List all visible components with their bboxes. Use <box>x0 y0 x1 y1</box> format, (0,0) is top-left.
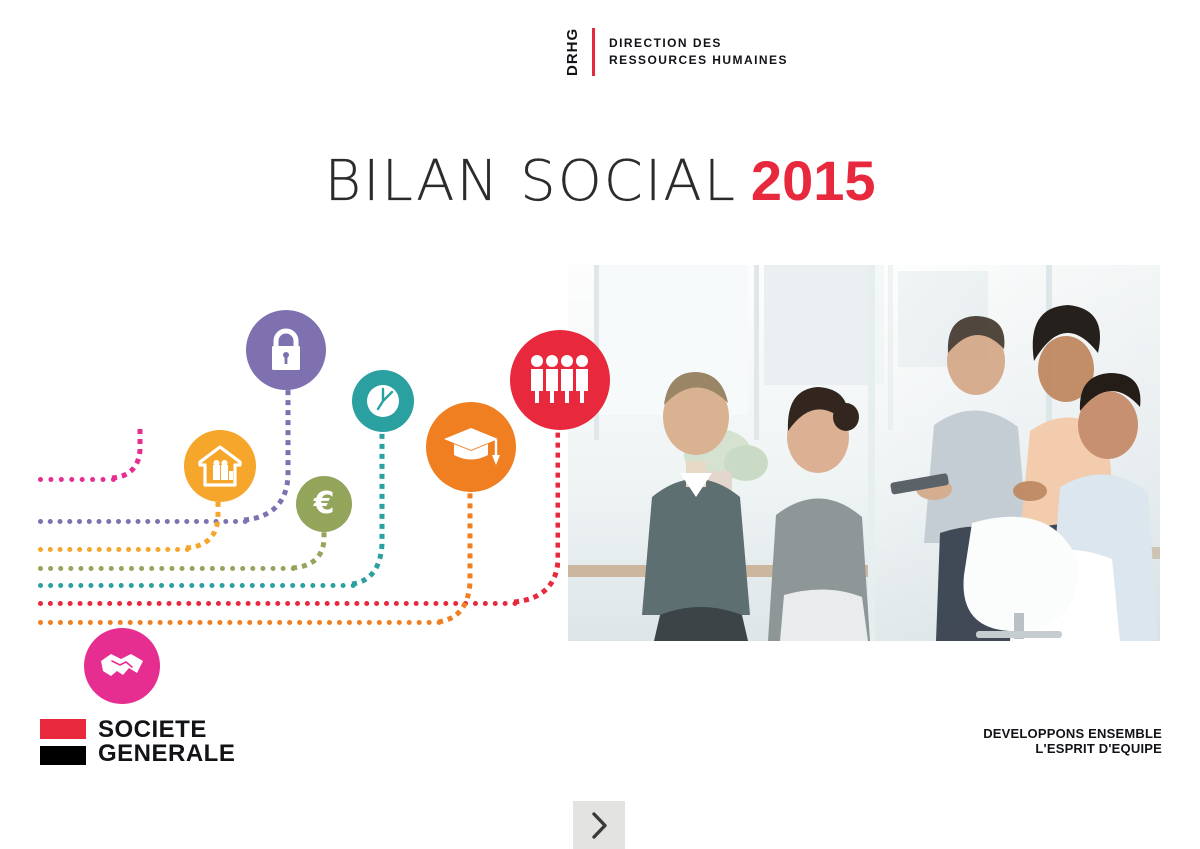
rail-elbow-clock <box>350 410 396 586</box>
header-department-name: DIRECTION DES RESSOURCES HUMAINES <box>609 28 788 76</box>
rail-elbow-handshake <box>110 422 156 480</box>
societe-generale-logo: SOCIETE GENERALE <box>40 718 235 767</box>
next-page-button[interactable] <box>573 801 625 849</box>
tagline-line-2: L'ESPRIT D'EQUIPE <box>983 741 1162 756</box>
tagline-line-1: DEVELOPPONS ENSEMBLE <box>983 726 1162 741</box>
office-team-photo <box>568 265 1160 641</box>
sg-logo-red-band <box>40 719 86 738</box>
clock-icon <box>361 379 405 423</box>
brand-tagline: DEVELOPPONS ENSEMBLE L'ESPRIT D'EQUIPE <box>983 726 1162 757</box>
handshake-icon <box>99 649 145 683</box>
header-divider <box>592 28 595 76</box>
rail-euro <box>38 566 296 571</box>
header-line-1: DIRECTION DES <box>609 35 788 52</box>
header-line-2: RESSOURCES HUMAINES <box>609 52 788 69</box>
bubble-lock[interactable] <box>246 310 326 390</box>
bubble-graduation[interactable] <box>426 402 516 492</box>
sg-logo-line-2: GENERALE <box>98 742 235 766</box>
title-main-text: BILAN SOCIAL <box>325 149 737 214</box>
lock-icon <box>266 327 306 373</box>
brand-header: DRHG DIRECTION DES RESSOURCES HUMAINES <box>565 28 788 76</box>
bubble-clock[interactable] <box>352 370 414 432</box>
sg-logo-mark <box>40 719 86 765</box>
page-title: BILAN SOCIAL2015 <box>0 148 1200 214</box>
rail-clock <box>38 583 356 588</box>
rail-handshake <box>38 477 116 482</box>
graduation-cap-icon <box>442 424 500 470</box>
chevron-right-icon <box>591 812 608 839</box>
people-group-icon <box>529 353 591 407</box>
rail-graduation <box>38 620 442 625</box>
sg-logo-white-band <box>40 739 86 746</box>
cover-illustration: € <box>0 250 1200 650</box>
bubble-people[interactable] <box>510 330 610 430</box>
bubble-euro[interactable]: € <box>296 476 352 532</box>
euro-icon: € <box>314 489 335 519</box>
cover-page: DRHG DIRECTION DES RESSOURCES HUMAINES B… <box>0 0 1200 849</box>
bubble-house[interactable] <box>184 430 256 502</box>
drhg-abbreviation: DRHG <box>565 28 580 76</box>
sg-logo-wordmark: SOCIETE GENERALE <box>98 718 235 767</box>
rail-house <box>38 547 190 552</box>
house-family-icon <box>198 445 242 487</box>
sg-logo-line-1: SOCIETE <box>98 718 235 742</box>
bubble-handshake[interactable] <box>84 628 160 704</box>
title-year-text: 2015 <box>751 149 876 212</box>
